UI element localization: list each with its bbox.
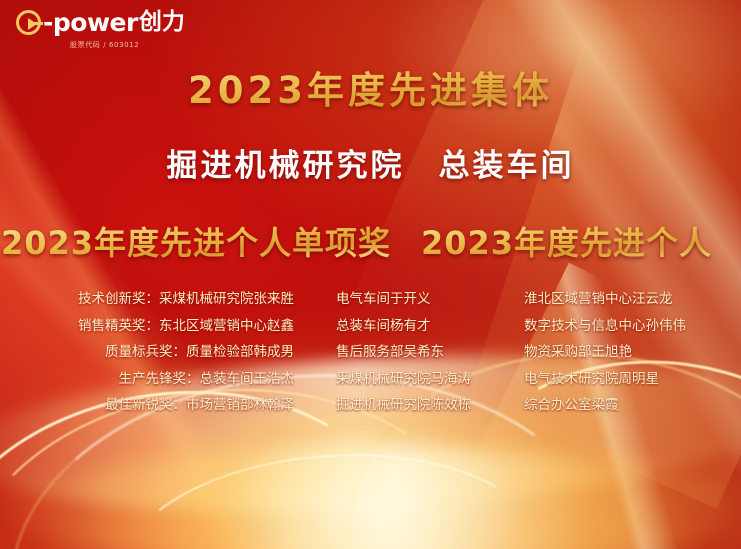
- list-item: 电气技术研究院周明星: [524, 366, 741, 393]
- list-item: 掘进机械研究院陈效栋: [336, 392, 524, 419]
- list-item: 销售精英奖：东北区域营销中心赵鑫: [0, 313, 330, 340]
- list-item: 采煤机械研究院马海涛: [336, 366, 524, 393]
- collective-winners-subtitle: 掘进机械研究院 总装车间: [0, 140, 741, 185]
- main-title: 2023年度先进集体: [0, 60, 741, 114]
- brand-wordmark: -power: [43, 10, 138, 35]
- list-item: 淮北区域营销中心汪云龙: [524, 286, 741, 313]
- brand-logo: -power 创力 股票代码 / 603012: [16, 10, 185, 50]
- brand-logo-row: -power 创力: [16, 10, 185, 35]
- list-item: 最佳新锐奖：市场营销部林翰泽: [0, 392, 330, 419]
- brand-wordmark-cn: 创力: [139, 10, 185, 35]
- heading-advanced-individuals: 2023年度先进个人: [392, 218, 741, 264]
- list-item: 生产先锋奖：总装车间王浩杰: [0, 366, 330, 393]
- list-item: 技术创新奖：采煤机械研究院张来胜: [0, 286, 330, 313]
- list-item: 总装车间杨有才: [336, 313, 524, 340]
- special-awards-list: 技术创新奖：采煤机械研究院张来胜 销售精英奖：东北区域营销中心赵鑫 质量标兵奖：…: [0, 286, 330, 419]
- list-item: 售后服务部吴希东: [336, 339, 524, 366]
- list-row: 掘进机械研究院陈效栋 综合办公室梁霞: [336, 392, 741, 419]
- list-row: 总装车间杨有才 数字技术与信息中心孙伟伟: [336, 313, 741, 340]
- award-poster: -power 创力 股票代码 / 603012 2023年度先进集体 掘进机械研…: [0, 0, 741, 549]
- poster-stage: 2023年度先进集体 掘进机械研究院 总装车间 2023年度先进个人单项奖 20…: [0, 0, 741, 549]
- section-headings: 2023年度先进个人单项奖 2023年度先进个人: [0, 218, 741, 264]
- list-item: 综合办公室梁霞: [524, 392, 741, 419]
- list-row: 售后服务部吴希东 物资采购部王旭艳: [336, 339, 741, 366]
- c-power-circle-arrow-icon: [16, 10, 41, 35]
- list-item: 质量标兵奖：质量检验部韩成男: [0, 339, 330, 366]
- stock-code-label: 股票代码 / 603012: [70, 40, 185, 50]
- list-item: 电气车间于开义: [336, 286, 524, 313]
- winner-lists: 技术创新奖：采煤机械研究院张来胜 销售精英奖：东北区域营销中心赵鑫 质量标兵奖：…: [0, 286, 741, 419]
- list-row: 电气车间于开义 淮北区域营销中心汪云龙: [336, 286, 741, 313]
- heading-individual-special-awards: 2023年度先进个人单项奖: [0, 218, 392, 264]
- list-row: 采煤机械研究院马海涛 电气技术研究院周明星: [336, 366, 741, 393]
- advanced-individuals-list: 电气车间于开义 淮北区域营销中心汪云龙 总装车间杨有才 数字技术与信息中心孙伟伟…: [330, 286, 741, 419]
- list-item: 物资采购部王旭艳: [524, 339, 741, 366]
- list-item: 数字技术与信息中心孙伟伟: [524, 313, 741, 340]
